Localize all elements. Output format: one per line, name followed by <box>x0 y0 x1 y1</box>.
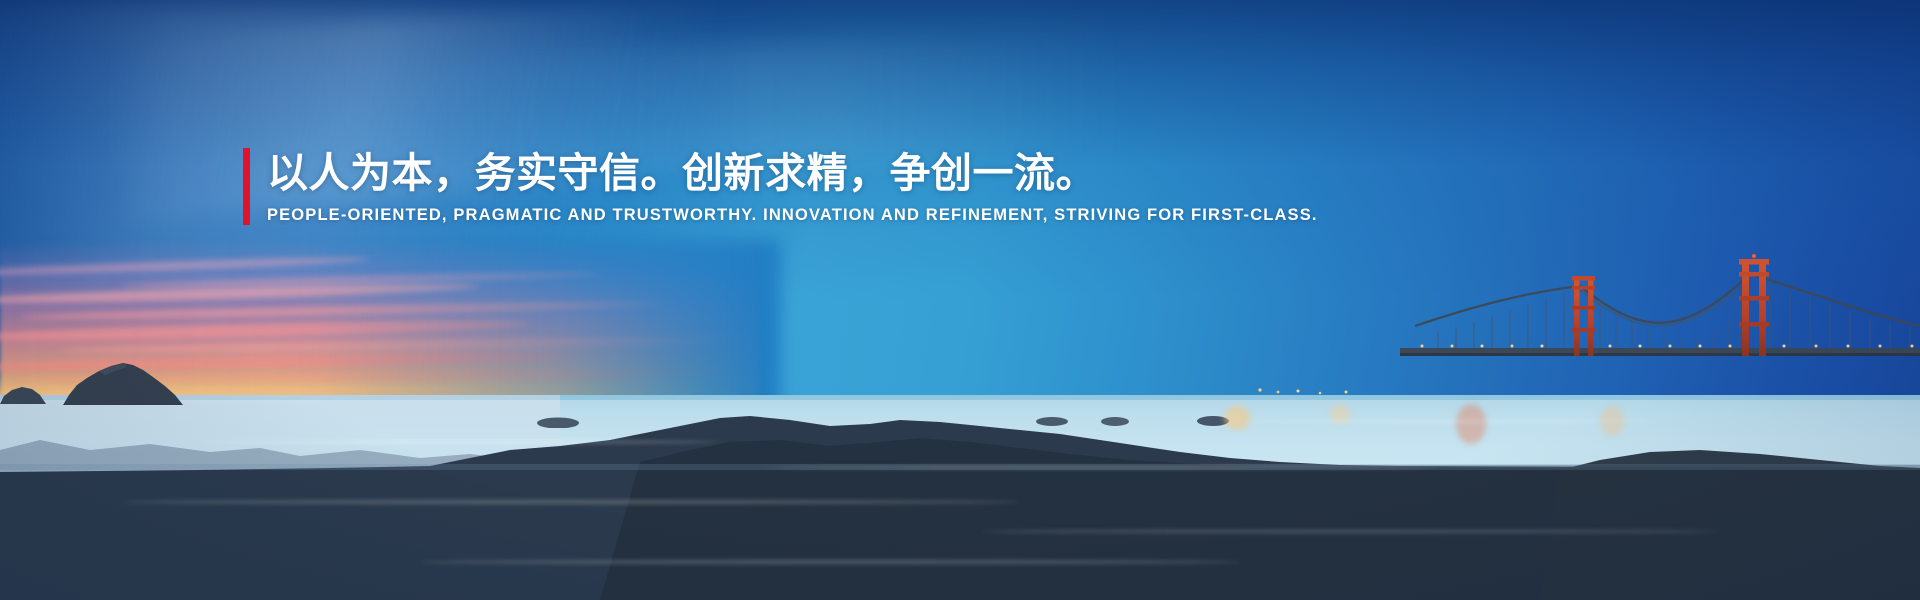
rock-islet-2 <box>1035 414 1069 426</box>
banner-copy: 以人为本，务实守信。创新求精，争创一流。 PEOPLE-ORIENTED, PR… <box>267 148 1318 225</box>
water-streak <box>1240 420 1660 423</box>
water-streak <box>760 466 1440 469</box>
banner-headline: 以人为本，务实守信。创新求精，争创一流。 <box>267 149 1318 197</box>
rock-islet-1 <box>536 414 580 428</box>
water-streak <box>420 560 1240 564</box>
light-reflection <box>1224 406 1250 430</box>
hero-banner: 以人为本，务实守信。创新求精，争创一流。 PEOPLE-ORIENTED, PR… <box>0 0 1920 600</box>
bridge-deck-lights <box>1421 345 1914 348</box>
banner-subheadline: PEOPLE-ORIENTED, PRAGMATIC AND TRUSTWORT… <box>267 206 1318 225</box>
bridge-tower-near <box>1739 254 1769 356</box>
banner-text-block: 以人为本，务实守信。创新求精，争创一流。 PEOPLE-ORIENTED, PR… <box>243 148 1318 225</box>
rock-formation-large <box>55 357 190 405</box>
red-accent-bar <box>243 148 250 225</box>
shoreline-lights <box>1258 388 1347 394</box>
water-streak <box>200 440 720 444</box>
water-streak <box>980 530 1720 533</box>
rock-formation-small-left <box>0 380 48 404</box>
bridge-tower-far <box>1572 276 1595 356</box>
water-streak <box>120 500 1020 504</box>
rock-islet-3 <box>1100 414 1130 426</box>
golden-gate-bridge <box>1160 230 1920 430</box>
light-reflection <box>1456 404 1486 444</box>
